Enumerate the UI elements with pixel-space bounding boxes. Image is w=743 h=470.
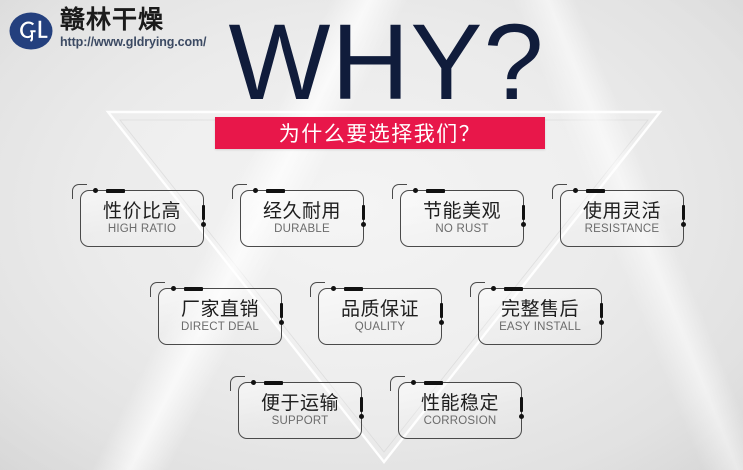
accent-dot-right-icon	[361, 222, 366, 227]
feature-title-en: DIRECT DEAL	[181, 321, 259, 333]
accent-dash-icon	[264, 381, 283, 385]
accent-dot-icon	[253, 188, 258, 193]
feature-title-cn: 性能稳定	[421, 394, 499, 414]
accent-dash-right-icon	[682, 205, 686, 220]
accent-dash-icon	[586, 189, 605, 193]
poster-canvas: 赣林干燥 http://www.gldrying.com/ WHY? 为什么要选…	[0, 0, 743, 470]
accent-dash-right-icon	[362, 205, 366, 220]
feature-title-cn: 使用灵活	[583, 202, 661, 222]
accent-dot-icon	[251, 380, 256, 385]
feature-title-en: EASY INSTALL	[499, 321, 581, 333]
feature-title-en: RESISTANCE	[585, 223, 660, 235]
accent-dot-right-icon	[521, 222, 526, 227]
title-ribbon: 为什么要选择我们？	[215, 117, 545, 149]
feature-title-cn: 便于运输	[261, 394, 339, 414]
accent-dash-icon	[184, 287, 203, 291]
accent-dot-icon	[491, 286, 496, 291]
accent-dash-right-icon	[520, 397, 524, 412]
accent-dash-icon	[106, 189, 125, 193]
feature-title-en: CORROSION	[424, 415, 497, 427]
brand-url[interactable]: http://www.gldrying.com/	[60, 36, 206, 49]
feature-title-cn: 经久耐用	[263, 202, 341, 222]
feature-card-resistance[interactable]: 使用灵活 RESISTANCE	[560, 190, 684, 247]
accent-dot-right-icon	[519, 414, 524, 419]
feature-card-no-rust[interactable]: 节能美观 NO RUST	[400, 190, 524, 247]
accent-dash-right-icon	[202, 205, 206, 220]
accent-dot-icon	[93, 188, 98, 193]
brand-header: 赣林干燥 http://www.gldrying.com/	[8, 6, 206, 54]
accent-dash-icon	[504, 287, 523, 291]
feature-title-cn: 节能美观	[423, 202, 501, 222]
accent-dash-icon	[424, 381, 443, 385]
title-ribbon-text: 为什么要选择我们？	[279, 118, 482, 148]
feature-title-cn: 品质保证	[341, 300, 419, 320]
accent-dash-icon	[266, 189, 285, 193]
accent-dot-right-icon	[359, 414, 364, 419]
feature-card-durable[interactable]: 经久耐用 DURABLE	[240, 190, 364, 247]
feature-card-direct-deal[interactable]: 厂家直销 DIRECT DEAL	[158, 288, 282, 345]
accent-dot-right-icon	[201, 222, 206, 227]
brand-name-cn: 赣林干燥	[60, 7, 206, 32]
accent-dot-icon	[411, 380, 416, 385]
feature-card-high-ratio[interactable]: 性价比高 HIGH RATIO	[80, 190, 204, 247]
accent-dash-right-icon	[440, 303, 444, 318]
accent-dash-icon	[344, 287, 363, 291]
accent-dash-right-icon	[522, 205, 526, 220]
accent-dot-icon	[171, 286, 176, 291]
feature-title-en: DURABLE	[274, 223, 330, 235]
feature-title-en: HIGH RATIO	[108, 223, 176, 235]
accent-dot-icon	[573, 188, 578, 193]
feature-title-cn: 完整售后	[501, 300, 579, 320]
accent-dot-right-icon	[279, 320, 284, 325]
accent-dash-right-icon	[600, 303, 604, 318]
page-title-text: WHY?	[198, 8, 544, 116]
feature-card-easy-install[interactable]: 完整售后 EASY INSTALL	[478, 288, 602, 345]
accent-dash-icon	[426, 189, 445, 193]
accent-dot-icon	[413, 188, 418, 193]
feature-title-en: SUPPORT	[272, 415, 329, 427]
accent-dot-right-icon	[439, 320, 444, 325]
accent-dot-right-icon	[599, 320, 604, 325]
feature-card-quality[interactable]: 品质保证 QUALITY	[318, 288, 442, 345]
accent-dash-right-icon	[280, 303, 284, 318]
accent-dash-right-icon	[360, 397, 364, 412]
accent-dot-icon	[331, 286, 336, 291]
feature-card-support[interactable]: 便于运输 SUPPORT	[238, 382, 362, 439]
gl-oval-logo-icon	[8, 8, 54, 54]
feature-title-cn: 厂家直销	[181, 300, 259, 320]
feature-card-corrosion[interactable]: 性能稳定 CORROSION	[398, 382, 522, 439]
accent-dot-right-icon	[681, 222, 686, 227]
feature-title-en: NO RUST	[435, 223, 488, 235]
feature-title-cn: 性价比高	[103, 202, 181, 222]
feature-title-en: QUALITY	[355, 321, 406, 333]
